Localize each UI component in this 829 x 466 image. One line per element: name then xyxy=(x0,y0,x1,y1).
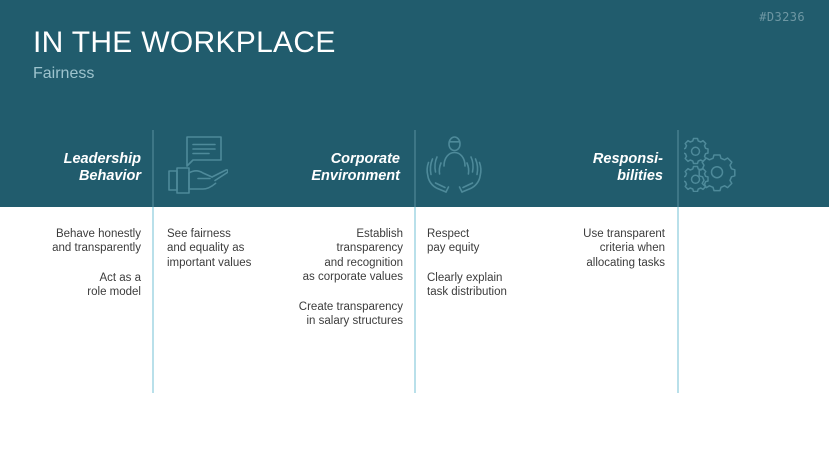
bullet-item: Act as a role model xyxy=(22,271,141,300)
column-body-four: Respect pay equity Clearly explain task … xyxy=(427,227,557,300)
bullet-item: Clearly explain task distribution xyxy=(427,271,557,300)
column-body-five: Use transparent criteria when allocating… xyxy=(546,227,665,270)
column-divider-1 xyxy=(152,130,154,393)
slide-canvas: #D3236 IN THE WORKPLACE Fairness Leaders… xyxy=(0,0,829,466)
column-divider-3 xyxy=(677,130,679,393)
bullet-item: See fairness and equality as important v… xyxy=(167,227,292,270)
column-body-responsibilities: Establish transparency and recognition a… xyxy=(284,227,403,329)
bullet-item: Behave honestly and transparently xyxy=(22,227,141,256)
gears-icon xyxy=(684,136,740,192)
column-header-corporate-environment: Corporate Environment xyxy=(295,133,414,203)
column-header-label: Leadership Behavior xyxy=(33,151,141,185)
column-body-leadership-behavior: Behave honestly and transparently Act as… xyxy=(22,227,141,300)
page-title: IN THE WORKPLACE xyxy=(33,26,336,60)
column-body-corporate-environment: See fairness and equality as important v… xyxy=(167,227,292,270)
page-subtitle: Fairness xyxy=(33,65,94,83)
bullet-item: Use transparent criteria when allocating… xyxy=(546,227,665,270)
column-header-label: Responsi- bilities xyxy=(558,151,663,185)
column-header-leadership-behavior: Leadership Behavior xyxy=(33,133,141,203)
bullet-item: Create transparency in salary structures xyxy=(284,300,403,329)
column-header-label: Corporate Environment xyxy=(295,151,400,185)
column-header-responsibilities: Responsi- bilities xyxy=(558,133,677,203)
protecting-hands-person-icon xyxy=(424,133,484,195)
bullet-item: Establish transparency and recognition a… xyxy=(284,227,403,285)
column-divider-2 xyxy=(414,130,416,393)
bullet-item: Respect pay equity xyxy=(427,227,557,256)
speech-bubble-hand-icon xyxy=(168,133,228,195)
slide-code-label: #D3236 xyxy=(759,10,805,24)
